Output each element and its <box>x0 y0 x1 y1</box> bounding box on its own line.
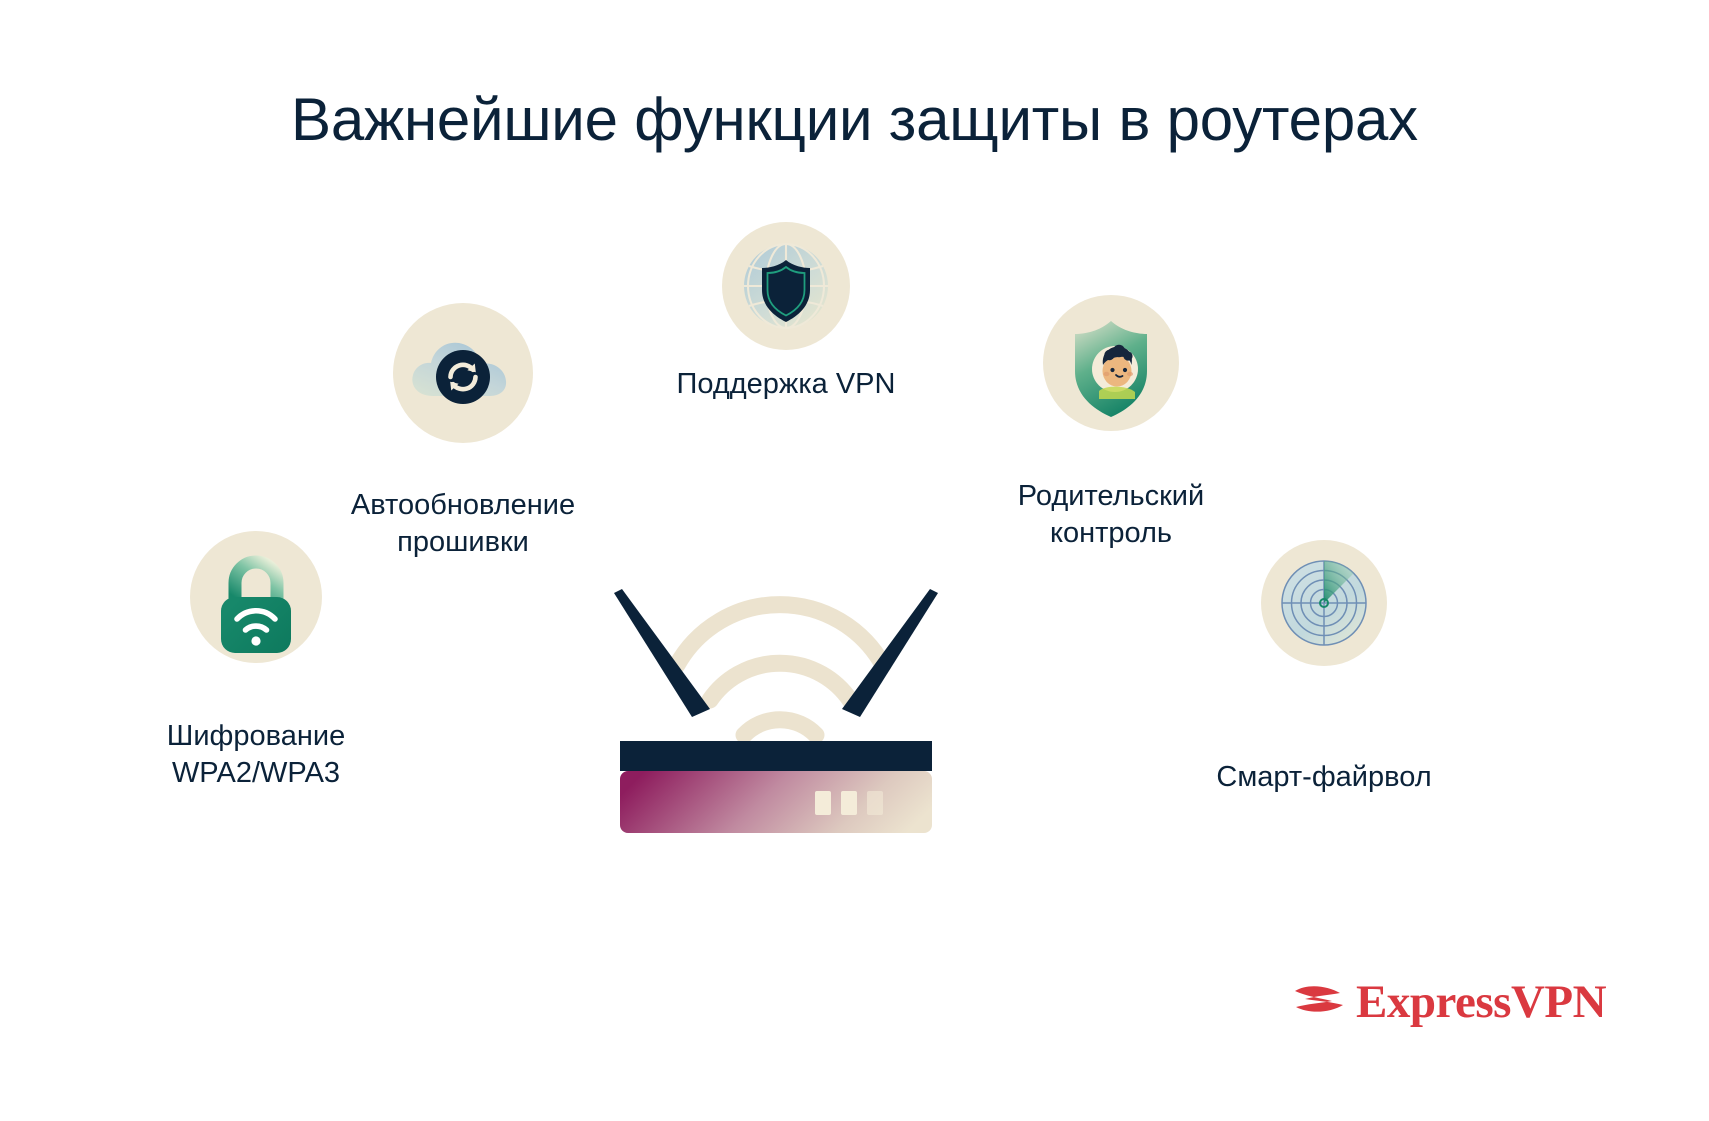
page-title: Важнейшие функции защиты в роутерах <box>0 85 1709 154</box>
radar-icon-svg <box>1261 540 1387 666</box>
feature-label-encryption: Шифрование WPA2/WPA3 <box>96 718 416 791</box>
feature-label-parental-control: Родительский контроль <box>951 478 1271 551</box>
feature-label-vpn-support: Поддержка VPN <box>626 366 946 403</box>
shield-child-icon-svg <box>1043 295 1179 431</box>
antenna-left <box>614 589 710 717</box>
antenna-right <box>842 589 938 717</box>
lock-wifi-icon <box>190 531 322 663</box>
cloud-refresh-icon-svg <box>393 303 533 443</box>
router-svg <box>600 545 1020 835</box>
expressvpn-mark-icon <box>1288 977 1350 1035</box>
expressvpn-logo[interactable]: ExpressVPN <box>1288 975 1588 1037</box>
radar-icon <box>1261 540 1387 666</box>
feature-label-smart-firewall: Смарт-файрвол <box>1164 759 1484 796</box>
wifi-waves <box>677 605 883 735</box>
cloud-refresh-icon <box>393 303 533 443</box>
globe-shield-icon-svg <box>722 222 850 350</box>
wifi-router-illustration <box>600 545 1020 835</box>
led-indicators <box>815 791 883 815</box>
router-body <box>620 771 932 833</box>
shield-child-icon <box>1043 295 1179 431</box>
expressvpn-logo-text: ExpressVPN <box>1356 975 1606 1029</box>
globe-shield-icon <box>722 222 850 350</box>
lock-wifi-icon-svg <box>190 531 322 663</box>
infographic-canvas: Важнейшие функции защиты в роутерах <box>0 0 1709 1121</box>
feature-label-firmware-auto-update: Автообновление прошивки <box>303 487 623 560</box>
